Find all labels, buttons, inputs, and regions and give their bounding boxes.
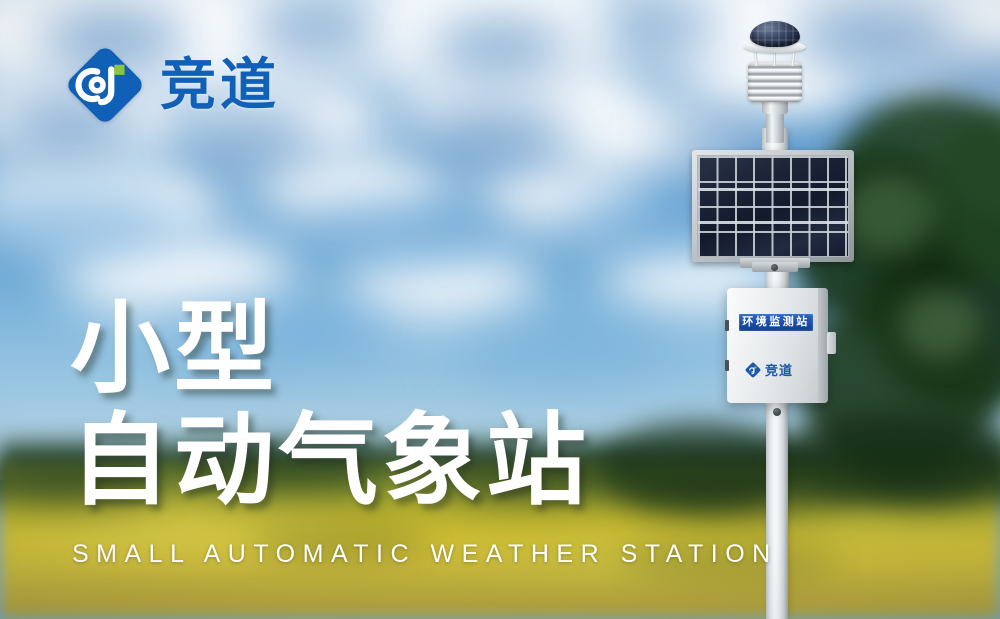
solar-cells xyxy=(697,155,849,257)
box-hinge xyxy=(725,320,729,331)
bracket-bolt xyxy=(771,264,778,271)
subtitle-text: SMALL AUTOMATIC WEATHER STATION xyxy=(72,540,778,569)
product-banner: 环境监测站 竞道 xyxy=(0,0,1000,619)
controller-box-icon: 环境监测站 竞道 xyxy=(727,288,828,403)
headline-block: 小型 自动气象站 xyxy=(70,298,690,512)
jingdao-diamond-logo-icon xyxy=(745,362,761,378)
box-brand-logo: 竞道 xyxy=(745,362,793,378)
box-hinge xyxy=(725,360,729,371)
dome-facets xyxy=(750,21,800,47)
mounting-pole-icon xyxy=(766,400,788,619)
box-brand-text: 竞道 xyxy=(765,364,793,377)
jingdao-diamond-logo-icon xyxy=(66,46,144,124)
headline-line-2: 自动气象站 xyxy=(70,410,690,512)
box-banner: 环境监测站 xyxy=(739,314,813,331)
box-bolt xyxy=(773,408,781,416)
radiation-shield-icon xyxy=(748,62,802,102)
panel-busbar xyxy=(698,221,848,224)
brand-logo[interactable]: 竞道 xyxy=(66,46,280,124)
panel-busbar xyxy=(698,188,848,191)
headline-line-1: 小型 xyxy=(70,298,690,400)
box-mount-tab xyxy=(827,332,836,354)
solar-panel-icon xyxy=(692,150,854,262)
box-banner-text: 环境监测站 xyxy=(742,317,810,328)
brand-wordmark: 竞道 xyxy=(160,57,280,113)
